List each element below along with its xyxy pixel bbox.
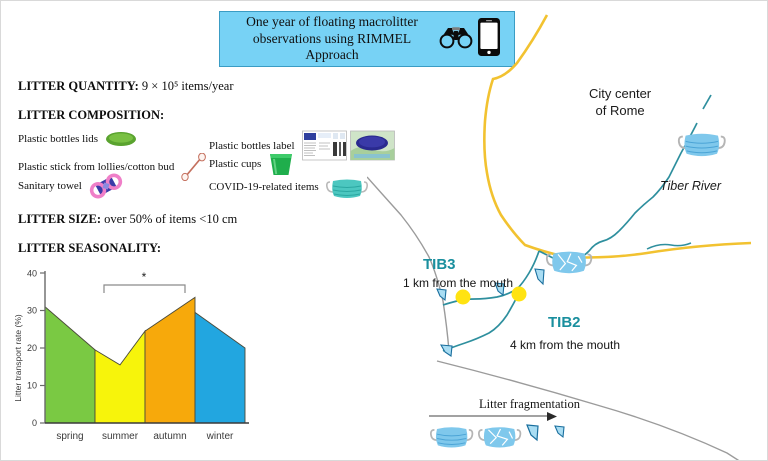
area-autumn — [145, 297, 195, 423]
litter-size-label: LITTER SIZE: — [18, 212, 101, 226]
fragmentation-piece-large — [527, 425, 538, 440]
composition-item-label: Plastic bottles lids — [18, 133, 98, 145]
chart-areas — [45, 297, 245, 423]
map-svg — [367, 1, 768, 461]
y-tick-label: 0 — [32, 418, 37, 428]
face-mask-icon — [326, 174, 368, 200]
map-label-city-center: City center of Rome — [589, 86, 651, 120]
y-tick-label: 40 — [27, 269, 37, 279]
litter-quantity-value: 9 × 10⁵ items/year — [139, 79, 234, 93]
cotton-bud-icon — [181, 153, 207, 181]
map-label-station-tib3: TIB3 — [423, 256, 456, 273]
litter-quantity-label: LITTER QUANTITY: — [18, 79, 139, 93]
litter-size-value: over 50% of items <10 cm — [101, 212, 237, 226]
composition-item-sanitary-towel: Sanitary towel — [18, 173, 123, 199]
x-tick-labels: spring summer autumn winter — [56, 431, 234, 442]
rome-tiber-map — [367, 1, 768, 461]
station-marker-tib3 — [456, 290, 471, 305]
fragment-flag — [535, 269, 544, 284]
map-sublabel-station-tib3: 1 km from the mouth — [403, 276, 513, 290]
litter-seasonality-heading: LITTER SEASONALITY: — [18, 241, 161, 256]
city-center-line-2: of Rome — [596, 103, 645, 118]
litter-size-heading: LITTER SIZE: over 50% of items <10 cm — [18, 212, 237, 227]
fragmentation-mask-whole — [431, 427, 473, 447]
area-winter — [195, 312, 245, 423]
y-tick-label: 30 — [27, 306, 37, 316]
y-tick-label: 20 — [27, 343, 37, 353]
significance-bracket — [104, 285, 185, 293]
composition-item-label: Sanitary towel — [18, 180, 82, 192]
map-label-tiber-river: Tiber River — [660, 179, 721, 193]
station-marker-tib2 — [512, 287, 527, 302]
litter-composition-heading: LITTER COMPOSITION: — [18, 108, 164, 123]
composition-item-bottle-lids: Plastic bottles lids — [18, 131, 137, 147]
litter-quantity-heading: LITTER QUANTITY: 9 × 10⁵ items/year — [18, 79, 234, 94]
x-tick-label-summer: summer — [102, 431, 139, 442]
map-label-litter-fragmentation: Litter fragmentation — [479, 397, 580, 412]
litter-seasonality-chart: 0 10 20 30 40 Litter transport rate (%) … — [9, 263, 257, 453]
fragment-flag — [437, 289, 446, 300]
area-spring — [45, 307, 95, 423]
city-center-line-1: City center — [589, 86, 651, 101]
map-sublabel-station-tib2: 4 km from the mouth — [510, 338, 620, 352]
composition-item-label: Plastic stick from lollies/cotton bud — [18, 161, 174, 173]
fragmentation-piece-small — [555, 426, 564, 437]
sanitary-towel-icon — [89, 173, 123, 199]
fragmentation-mask-broken — [479, 427, 521, 447]
composition-item-covid-mask: COVID-19-related items — [209, 174, 368, 200]
map-mask-icon-midriver — [547, 252, 591, 274]
y-tick-labels: 0 10 20 30 40 — [27, 269, 37, 429]
infographic-figure: One year of floating macrolitter observa… — [0, 0, 768, 461]
map-mask-icon-tiber — [679, 134, 725, 156]
significance-asterisk: * — [142, 270, 147, 284]
fragmentation-arrow — [429, 412, 557, 421]
area-summer — [95, 331, 145, 423]
x-tick-label-spring: spring — [56, 431, 83, 442]
bottle-cap-icon — [105, 131, 137, 147]
x-tick-label-autumn: autumn — [153, 431, 186, 442]
composition-item-label: COVID-19-related items — [209, 181, 319, 193]
fragment-flag — [441, 345, 452, 356]
map-label-station-tib2: TIB2 — [548, 314, 581, 331]
river-stub-upper — [703, 95, 711, 109]
composition-item-label: Plastic cups — [209, 158, 261, 170]
y-ticks — [40, 273, 45, 423]
y-tick-label: 10 — [27, 381, 37, 391]
chart-svg: 0 10 20 30 40 Litter transport rate (%) … — [9, 263, 257, 453]
y-axis-label: Litter transport rate (%) — [13, 314, 23, 402]
x-tick-label-winter: winter — [206, 431, 234, 442]
